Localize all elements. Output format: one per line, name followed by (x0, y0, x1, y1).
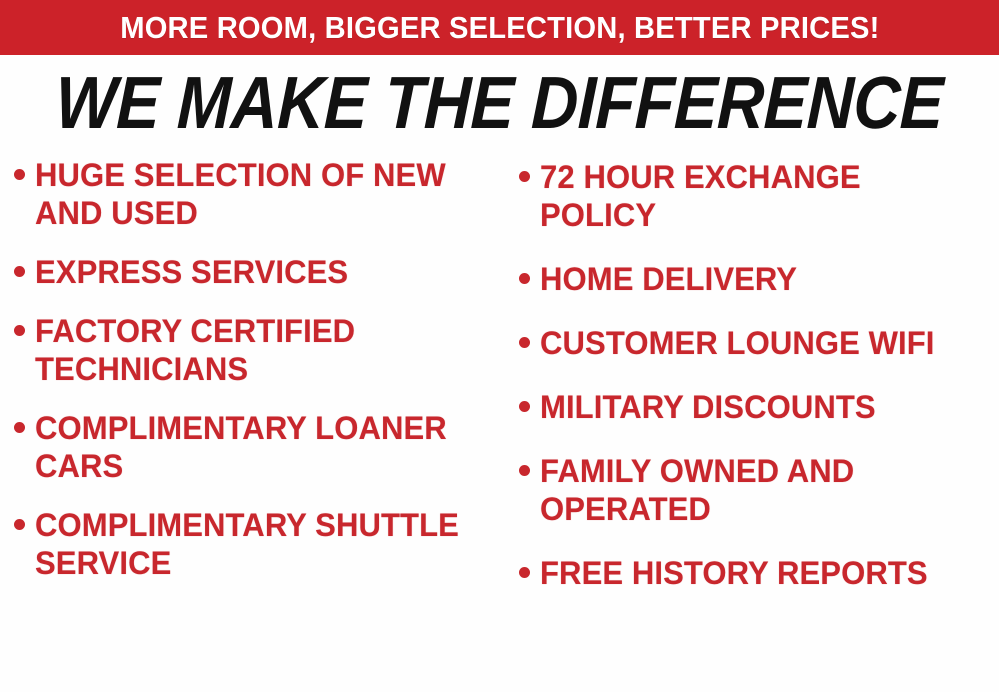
benefit-label: COMPLIMENTARY SHUTTLE SERVICE (35, 506, 491, 582)
benefit-label: MILITARY DISCOUNTS (540, 388, 876, 426)
list-item: FACTORY CERTIFIED TECHNICIANS (14, 312, 505, 388)
bullet-dot-icon (519, 337, 530, 348)
benefit-label: HUGE SELECTION OF NEW AND USED (35, 156, 491, 232)
bullet-dot-icon (14, 519, 25, 530)
bullet-dot-icon (519, 567, 530, 578)
benefit-label: CUSTOMER LOUNGE WIFI (540, 324, 935, 362)
benefit-label: HOME DELIVERY (540, 260, 797, 298)
list-item: MILITARY DISCOUNTS (519, 388, 999, 426)
dealership-promo-poster: MORE ROOM, BIGGER SELECTION, BETTER PRIC… (0, 0, 999, 692)
benefit-label: COMPLIMENTARY LOANER CARS (35, 409, 491, 485)
bullet-dot-icon (519, 171, 530, 182)
headline-area: WE MAKE THE DIFFERENCE (0, 60, 999, 145)
list-item: EXPRESS SERVICES (14, 253, 505, 291)
list-item: FREE HISTORY REPORTS (519, 554, 999, 592)
bullet-dot-icon (14, 169, 25, 180)
list-item: CUSTOMER LOUNGE WIFI (519, 324, 999, 362)
top-banner: MORE ROOM, BIGGER SELECTION, BETTER PRIC… (0, 0, 999, 55)
benefit-label: FREE HISTORY REPORTS (540, 554, 928, 592)
benefit-label: FAMILY OWNED AND OPERATED (540, 452, 985, 528)
page-title: WE MAKE THE DIFFERENCE (55, 66, 945, 140)
bullet-dot-icon (519, 273, 530, 284)
bullet-dot-icon (14, 325, 25, 336)
list-item: HUGE SELECTION OF NEW AND USED (14, 156, 505, 232)
list-item: COMPLIMENTARY LOANER CARS (14, 409, 505, 485)
list-item: COMPLIMENTARY SHUTTLE SERVICE (14, 506, 505, 582)
benefit-label: FACTORY CERTIFIED TECHNICIANS (35, 312, 491, 388)
benefits-column-right: 72 HOUR EXCHANGE POLICY HOME DELIVERY CU… (505, 152, 999, 618)
bullet-dot-icon (519, 465, 530, 476)
benefits-columns: HUGE SELECTION OF NEW AND USED EXPRESS S… (0, 152, 999, 692)
bullet-dot-icon (14, 422, 25, 433)
benefits-column-left: HUGE SELECTION OF NEW AND USED EXPRESS S… (0, 152, 505, 603)
list-item: 72 HOUR EXCHANGE POLICY (519, 158, 999, 234)
benefit-label: 72 HOUR EXCHANGE POLICY (540, 158, 985, 234)
bullet-dot-icon (14, 266, 25, 277)
list-item: FAMILY OWNED AND OPERATED (519, 452, 999, 528)
banner-headline-text: MORE ROOM, BIGGER SELECTION, BETTER PRIC… (120, 12, 879, 43)
list-item: HOME DELIVERY (519, 260, 999, 298)
benefit-label: EXPRESS SERVICES (35, 253, 348, 291)
bullet-dot-icon (519, 401, 530, 412)
